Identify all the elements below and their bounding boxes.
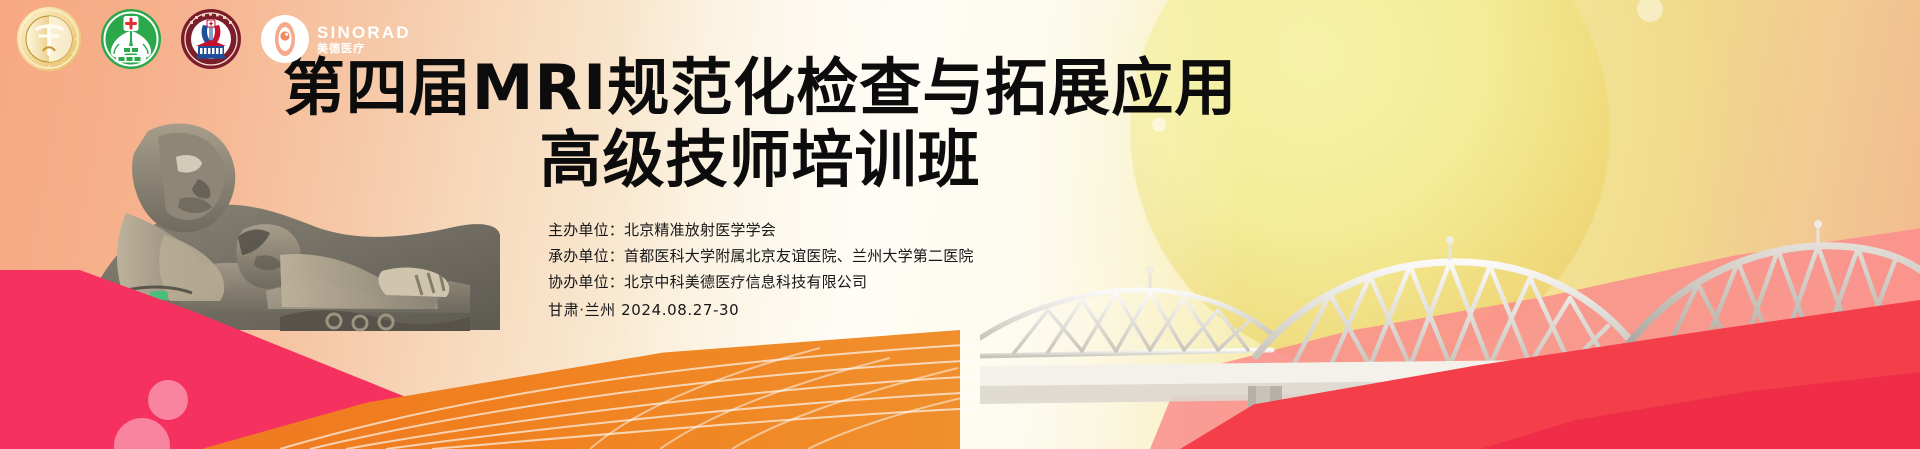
sinorad-wordmark: SINORAD <box>317 24 411 41</box>
organizer-line: 主办单位：北京精准放射医学学会 <box>548 218 974 244</box>
zhongshan-bridge-illustration <box>980 160 1920 449</box>
sinorad-eye-icon <box>260 14 310 64</box>
beijing-precision-radiology-society-logo[interactable] <box>16 6 82 72</box>
decorative-dot <box>148 380 188 420</box>
sinorad-wordmark-sub: 美德医疗 <box>317 44 411 55</box>
light-speck-icon <box>1637 0 1663 22</box>
coorganizer-line: 协办单位：北京中科美德医疗信息科技有限公司 <box>548 270 974 296</box>
location-date-line: 甘肃·兰州 2024.08.27-30 <box>548 298 974 324</box>
sinorad-logo[interactable]: SINORAD 美德医疗 <box>260 14 411 64</box>
lanzhou-university-second-hospital-logo[interactable] <box>180 8 242 70</box>
host-line: 承办单位：首都医科大学附属北京友谊医院、兰州大学第二医院 <box>548 244 974 270</box>
beijing-friendship-hospital-logo[interactable] <box>100 8 162 70</box>
title-line-2: 高级技师培训班 <box>250 127 1270 193</box>
banner-headline: 第四届MRI规范化检查与拓展应用 高级技师培训班 <box>250 55 1270 192</box>
decorative-dot <box>114 418 170 449</box>
organizer-logo-row: SINORAD 美德医疗 <box>16 6 411 72</box>
event-details: 主办单位：北京精准放射医学学会 承办单位：首都医科大学附属北京友谊医院、兰州大学… <box>548 218 974 324</box>
conference-banner: SINORAD 美德医疗 第四届MRI规范化检查与拓展应用 高级技师培训班 主办… <box>0 0 1920 449</box>
